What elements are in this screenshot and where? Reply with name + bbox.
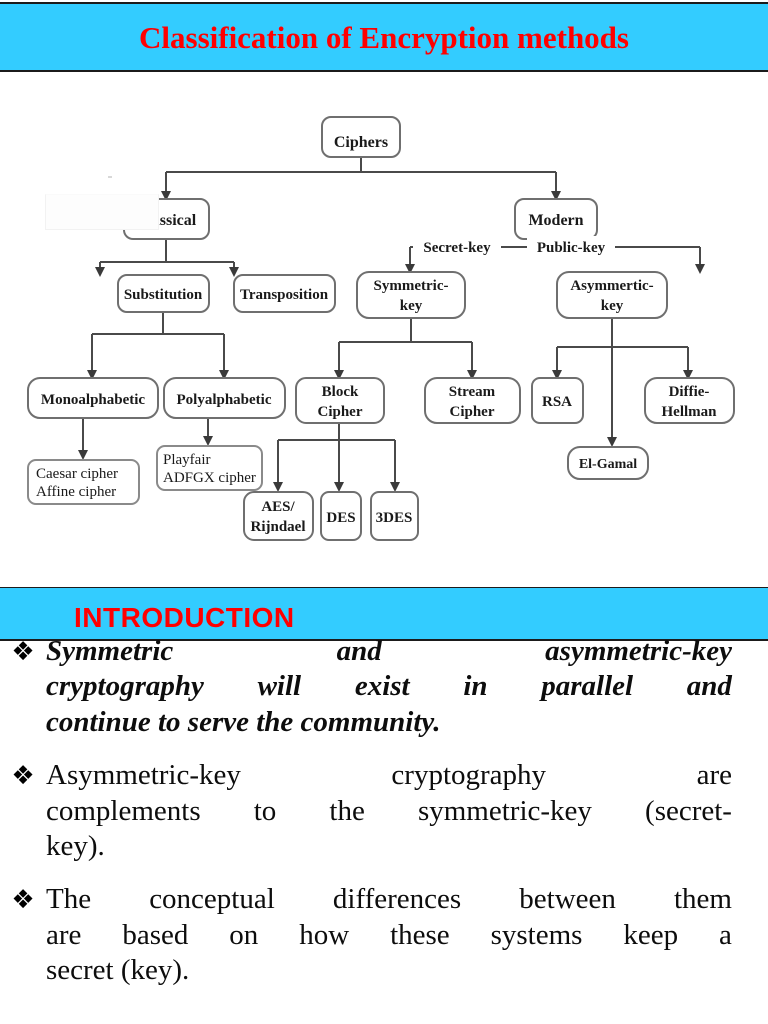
bullet-list: ❖Symmetricandasymmetric-keycryptographyw… bbox=[0, 634, 768, 1006]
bullet-line: continue to serve the community. bbox=[46, 705, 732, 740]
bullet-word: are bbox=[697, 758, 732, 793]
bullet-word: based bbox=[122, 918, 188, 953]
node-modern-label: Modern bbox=[528, 212, 583, 229]
edge-label-secret-key-text: Secret-key bbox=[423, 240, 491, 256]
node-symmetric-key-label-line1: Symmetric- bbox=[374, 278, 449, 294]
node-block-cipher-label-line2: Cipher bbox=[318, 404, 363, 420]
node-asymmetric-key-label-line1: Asymmertic- bbox=[570, 278, 653, 294]
node-aes-rijndael: AES/ Rijndael bbox=[244, 492, 313, 540]
bullet-word: continue to serve the community. bbox=[46, 705, 440, 740]
bullet-line: Theconceptualdifferencesbetweenthem bbox=[46, 882, 732, 917]
node-asymmetric-key-label-line2: key bbox=[601, 298, 624, 314]
diagram-canvas: Ciphers Classical Modern Secret-key Publ… bbox=[0, 72, 768, 572]
node-block-cipher: Block Cipher bbox=[296, 378, 384, 423]
bullet-word: differences bbox=[333, 882, 461, 917]
node-block-cipher-label-line1: Block bbox=[322, 384, 359, 400]
node-adfgx-cipher-label: ADFGX cipher bbox=[163, 470, 256, 486]
bullet-word: symmetric-key bbox=[418, 794, 592, 829]
node-substitution: Substitution bbox=[118, 275, 209, 312]
node-monoalphabetic-label: Monoalphabetic bbox=[41, 392, 146, 408]
bullet-item: ❖Symmetricandasymmetric-keycryptographyw… bbox=[0, 634, 768, 740]
node-aes-label-line1: AES/ bbox=[261, 499, 295, 515]
bullet-marker-icon: ❖ bbox=[0, 758, 46, 794]
bullet-word: asymmetric-key bbox=[545, 634, 732, 669]
node-diffie-hellman: Diffie- Hellman bbox=[645, 378, 734, 423]
node-substitution-label: Substitution bbox=[124, 287, 203, 303]
bullet-item: ❖Theconceptualdifferencesbetweenthemareb… bbox=[0, 882, 768, 988]
node-el-gamal: El-Gamal bbox=[568, 447, 648, 479]
bullet-word: exist bbox=[355, 669, 410, 704]
node-ciphers: Ciphers bbox=[322, 117, 400, 157]
section-heading: INTRODUCTION bbox=[74, 604, 295, 632]
node-stream-cipher-label-line2: Cipher bbox=[450, 404, 495, 420]
node-diffie-hellman-label-line2: Hellman bbox=[662, 404, 718, 420]
bullet-word: in bbox=[463, 669, 487, 704]
bullet-word: key). bbox=[46, 829, 105, 864]
bullet-word: complements bbox=[46, 794, 201, 829]
node-modern: Modern bbox=[515, 199, 597, 239]
node-affine-cipher-label: Affine cipher bbox=[36, 484, 116, 500]
bullet-word: cryptography bbox=[46, 669, 204, 704]
introduction-banner: INTRODUCTION bbox=[0, 587, 768, 641]
node-transposition-label: Transposition bbox=[240, 287, 329, 303]
bullet-line: secret (key). bbox=[46, 953, 732, 988]
bullet-word: parallel bbox=[541, 669, 633, 704]
node-rsa-label: RSA bbox=[542, 394, 572, 410]
bullet-word: on bbox=[229, 918, 258, 953]
bullet-word: systems bbox=[491, 918, 583, 953]
bullet-word: The bbox=[46, 882, 91, 917]
background-artifact-rectangle bbox=[45, 194, 159, 230]
node-caesar-cipher-label: Caesar cipher bbox=[36, 466, 118, 482]
bullet-word: keep bbox=[623, 918, 678, 953]
node-des: DES bbox=[321, 492, 361, 540]
bullet-word: (secret- bbox=[645, 794, 732, 829]
node-diffie-hellman-label-line1: Diffie- bbox=[669, 384, 710, 400]
bullet-word: and bbox=[687, 669, 732, 704]
bullet-word: these bbox=[390, 918, 450, 953]
bullet-word: cryptography bbox=[391, 758, 546, 793]
bullet-marker-icon: ❖ bbox=[0, 634, 46, 670]
bullet-item: ❖Asymmetric-keycryptographyarecomplement… bbox=[0, 758, 768, 864]
bullet-text: Theconceptualdifferencesbetweenthemareba… bbox=[46, 882, 768, 988]
background-artifact-tick bbox=[108, 176, 112, 178]
node-aes-label-line2: Rijndael bbox=[250, 519, 305, 535]
node-symmetric-key: Symmetric- key bbox=[357, 272, 465, 318]
bullet-line: key). bbox=[46, 829, 732, 864]
bullet-word: Symmetric bbox=[46, 634, 173, 669]
edge-label-public-key: Public-key bbox=[527, 236, 615, 258]
bullet-line: complementstothesymmetric-key(secret- bbox=[46, 794, 732, 829]
encryption-classification-diagram: Ciphers Classical Modern Secret-key Publ… bbox=[0, 72, 768, 572]
node-asymmetric-key: Asymmertic- key bbox=[557, 272, 667, 318]
node-polyalphabetic: Polyalphabetic bbox=[164, 378, 285, 418]
bullet-text: Asymmetric-keycryptographyarecomplements… bbox=[46, 758, 768, 864]
bullet-word: and bbox=[337, 634, 382, 669]
bullet-word: a bbox=[719, 918, 732, 953]
node-3des-label: 3DES bbox=[376, 510, 413, 526]
bullet-word: how bbox=[299, 918, 349, 953]
bullet-word: Asymmetric-key bbox=[46, 758, 241, 793]
node-symmetric-key-label-line2: key bbox=[400, 298, 423, 314]
bullet-word: between bbox=[519, 882, 616, 917]
page-title: Classification of Encryption methods bbox=[139, 22, 629, 53]
bullet-line: arebasedonhowthesesystemskeepa bbox=[46, 918, 732, 953]
edge-label-public-key-text: Public-key bbox=[537, 240, 606, 256]
bullet-word: conceptual bbox=[149, 882, 275, 917]
bullet-line: cryptographywillexistinparalleland bbox=[46, 669, 732, 704]
node-des-label: DES bbox=[326, 510, 355, 526]
bullet-text: Symmetricandasymmetric-keycryptographywi… bbox=[46, 634, 768, 740]
bullet-word: will bbox=[258, 669, 302, 704]
node-playfair-label: Playfair bbox=[163, 452, 210, 468]
bullet-line: Asymmetric-keycryptographyare bbox=[46, 758, 732, 793]
node-rsa: RSA bbox=[532, 378, 583, 423]
node-transposition: Transposition bbox=[234, 275, 335, 312]
bullet-word: are bbox=[46, 918, 81, 953]
node-stream-cipher-label-line1: Stream bbox=[449, 384, 496, 400]
node-caesar-affine: Caesar cipher Affine cipher bbox=[28, 460, 139, 504]
node-polyalphabetic-label: Polyalphabetic bbox=[176, 392, 271, 408]
node-ciphers-label: Ciphers bbox=[334, 134, 388, 151]
node-el-gamal-label: El-Gamal bbox=[579, 457, 637, 472]
title-banner: Classification of Encryption methods bbox=[0, 2, 768, 72]
bullet-word: secret (key). bbox=[46, 953, 189, 988]
node-playfair-adfgx: Playfair ADFGX cipher bbox=[157, 446, 262, 490]
bullet-word: to bbox=[254, 794, 277, 829]
bullet-marker-icon: ❖ bbox=[0, 882, 46, 918]
bullet-word: them bbox=[674, 882, 732, 917]
diagram-nodes: Ciphers Classical Modern Secret-key Publ… bbox=[28, 117, 734, 540]
bullet-line: Symmetricandasymmetric-key bbox=[46, 634, 732, 669]
node-3des: 3DES bbox=[371, 492, 418, 540]
bullet-word: the bbox=[329, 794, 364, 829]
node-monoalphabetic: Monoalphabetic bbox=[28, 378, 158, 418]
node-stream-cipher: Stream Cipher bbox=[425, 378, 520, 423]
edge-label-secret-key: Secret-key bbox=[413, 236, 501, 258]
